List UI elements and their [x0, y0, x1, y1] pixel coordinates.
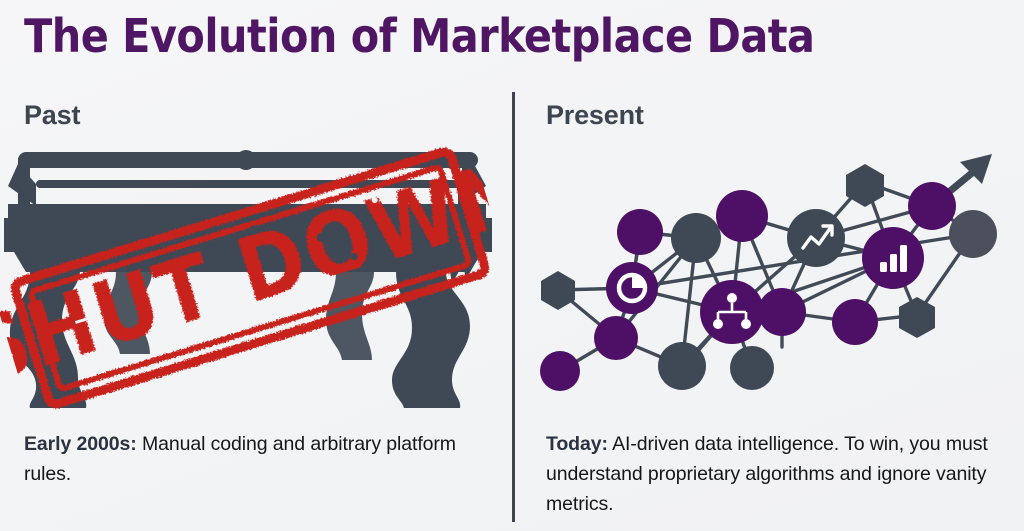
slide-canvas: The Evolution of Marketplace Data Past	[0, 0, 1024, 531]
past-caption-lead: Early 2000s:	[24, 433, 137, 455]
column-heading-present: Present	[546, 99, 644, 131]
sitemap-node	[700, 280, 764, 344]
present-caption: Today: AI-driven data intelligence. To w…	[546, 429, 996, 519]
pie-chart-node	[606, 262, 658, 314]
past-illustration: SHUT DOWN	[0, 140, 500, 415]
network-graph-icon	[520, 140, 1024, 415]
present-illustration	[520, 140, 1024, 415]
column-divider	[512, 92, 515, 522]
pool-table-silhouette-icon: SHUT DOWN	[0, 140, 500, 415]
past-caption: Early 2000s: Manual coding and arbitrary…	[24, 429, 464, 489]
column-heading-past: Past	[24, 99, 80, 131]
present-caption-lead: Today:	[546, 433, 608, 455]
page-title: The Evolution of Marketplace Data	[24, 8, 1004, 64]
present-caption-body: AI-driven data intelligence. To win, you…	[546, 433, 988, 515]
bar-chart-node	[862, 227, 924, 289]
line-chart-node	[787, 209, 845, 267]
